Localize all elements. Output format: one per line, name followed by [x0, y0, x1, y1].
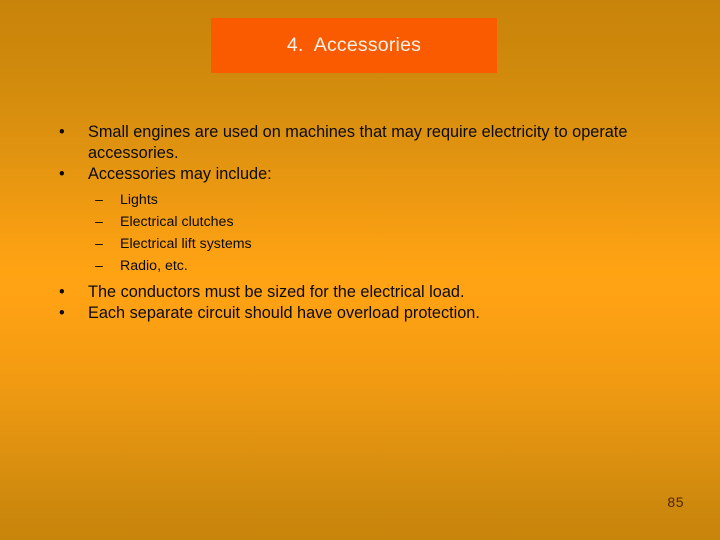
sub-list-item-label: Electrical lift systems [120, 236, 252, 252]
list-item-label: The conductors must be sized for the ele… [88, 283, 464, 301]
bullet-dash-icon: – [95, 234, 103, 254]
slide-body: • Small engines are used on machines tha… [0, 122, 720, 325]
slide-canvas: 4. Accessories • Small engines are used … [0, 0, 720, 540]
list-item: • Each separate circuit should have over… [0, 303, 720, 324]
list-item-label: Small engines are used on machines that … [88, 123, 627, 162]
bullet-dot-icon: • [59, 282, 65, 303]
bullet-dot-icon: • [59, 122, 65, 143]
sub-list-item: – Electrical lift systems [0, 234, 720, 254]
list-item-label: Each separate circuit should have overlo… [88, 304, 480, 322]
slide-title-box: 4. Accessories [211, 18, 497, 73]
sub-list-item: – Electrical clutches [0, 212, 720, 232]
list-item: • Small engines are used on machines tha… [0, 122, 720, 163]
list-item: • Accessories may include: [0, 164, 720, 185]
bullet-dot-icon: • [59, 303, 65, 324]
list-item-label: Accessories may include: [88, 165, 272, 183]
sub-list-item-label: Lights [120, 192, 158, 208]
list-item: • The conductors must be sized for the e… [0, 282, 720, 303]
bullet-dot-icon: • [59, 164, 65, 185]
bullet-dash-icon: – [95, 256, 103, 276]
page-number: 85 [667, 494, 684, 510]
sub-list: – Lights – Electrical clutches – Electri… [0, 190, 720, 276]
sub-list-item-label: Electrical clutches [120, 214, 234, 230]
sub-list-item: – Lights [0, 190, 720, 210]
sub-list-item-label: Radio, etc. [120, 258, 188, 274]
bullet-dash-icon: – [95, 190, 103, 210]
sub-list-item: – Radio, etc. [0, 256, 720, 276]
page-title: 4. Accessories [287, 36, 421, 56]
bullet-dash-icon: – [95, 212, 103, 232]
